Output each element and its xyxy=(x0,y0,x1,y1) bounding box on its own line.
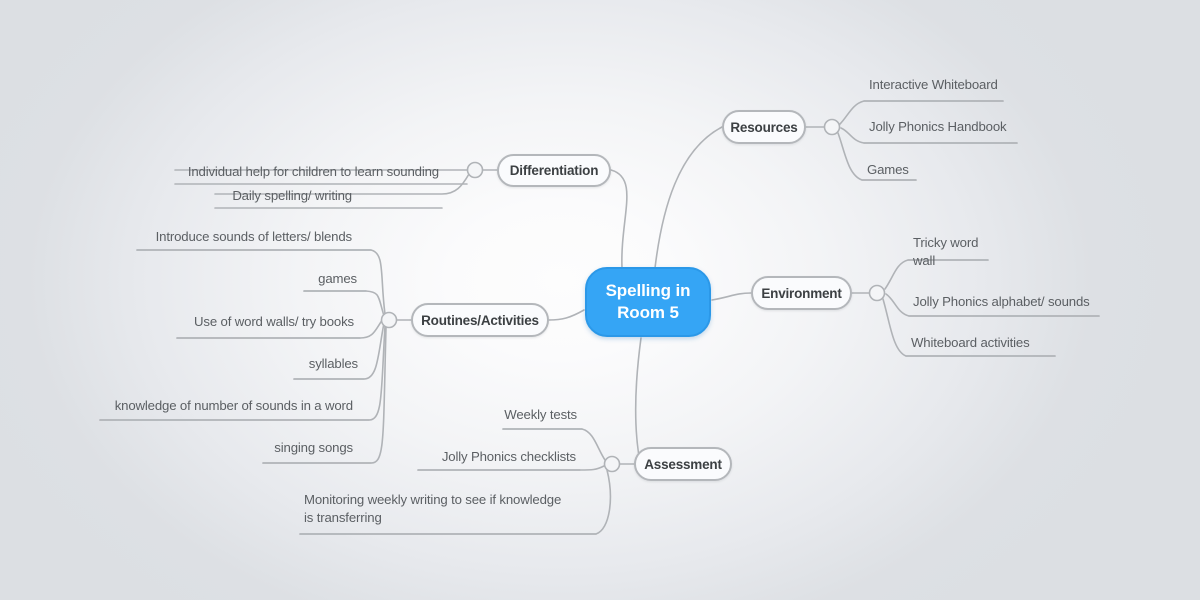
hub-differentiation[interactable] xyxy=(468,163,483,178)
edge-central-resources xyxy=(655,127,722,268)
branch-node-routines-activities[interactable]: Routines/Activities xyxy=(411,303,549,337)
edge-central-routines xyxy=(549,310,584,320)
leaf-differentiation-individual-help[interactable]: Individual help for children to learn so… xyxy=(120,163,439,181)
leaf-assessment-jolly-phonics-checklists[interactable]: Jolly Phonics checklists xyxy=(337,448,576,466)
leaf-routines-use-of-word-walls[interactable]: Use of word walls/ try books xyxy=(120,313,354,331)
leaf-environment-jolly-phonics-alphabet-sounds[interactable]: Jolly Phonics alphabet/ sounds xyxy=(913,293,1143,311)
leaf-routines-games[interactable]: games xyxy=(180,270,357,288)
leaf-resources-interactive-whiteboard[interactable]: Interactive Whiteboard xyxy=(869,76,1089,94)
hub-assessment[interactable] xyxy=(605,457,620,472)
mindmap-canvas: Spelling in Room 5 Resources Environment… xyxy=(0,0,1200,600)
leaf-resources-games[interactable]: Games xyxy=(867,161,1027,179)
central-node[interactable]: Spelling in Room 5 xyxy=(585,267,711,337)
leaf-routines-syllables[interactable]: syllables xyxy=(180,355,358,373)
leaf-environment-whiteboard-activities[interactable]: Whiteboard activities xyxy=(911,334,1131,352)
leaf-routines-knowledge-of-number-of-sounds[interactable]: knowledge of number of sounds in a word xyxy=(60,397,353,415)
branch-node-differentiation[interactable]: Differentiation xyxy=(497,154,611,187)
hub-environment[interactable] xyxy=(870,286,885,301)
leaf-assessment-weekly-tests[interactable]: Weekly tests xyxy=(362,406,577,424)
leaf-assessment-monitoring-weekly-writing[interactable]: Monitoring weekly writing to see if know… xyxy=(304,491,577,527)
leaf-environment-tricky-word-wall[interactable]: Tricky word wall xyxy=(913,234,1073,270)
leaf-resources-jolly-phonics-handbook[interactable]: Jolly Phonics Handbook xyxy=(869,118,1099,136)
leaf-differentiation-daily-spelling-writing[interactable]: Daily spelling/ writing xyxy=(120,187,352,205)
branch-node-resources[interactable]: Resources xyxy=(722,110,806,144)
hub-routines[interactable] xyxy=(382,313,397,328)
hub-resources[interactable] xyxy=(825,120,840,135)
branch-node-environment[interactable]: Environment xyxy=(751,276,852,310)
leaf-routines-introduce-sounds[interactable]: Introduce sounds of letters/ blends xyxy=(100,228,352,246)
edge-central-assessment xyxy=(636,338,641,462)
leaf-routines-singing-songs[interactable]: singing songs xyxy=(180,439,353,457)
edge-central-differentiation xyxy=(611,170,627,268)
branch-node-assessment[interactable]: Assessment xyxy=(634,447,732,481)
edge-central-environment xyxy=(712,293,751,300)
